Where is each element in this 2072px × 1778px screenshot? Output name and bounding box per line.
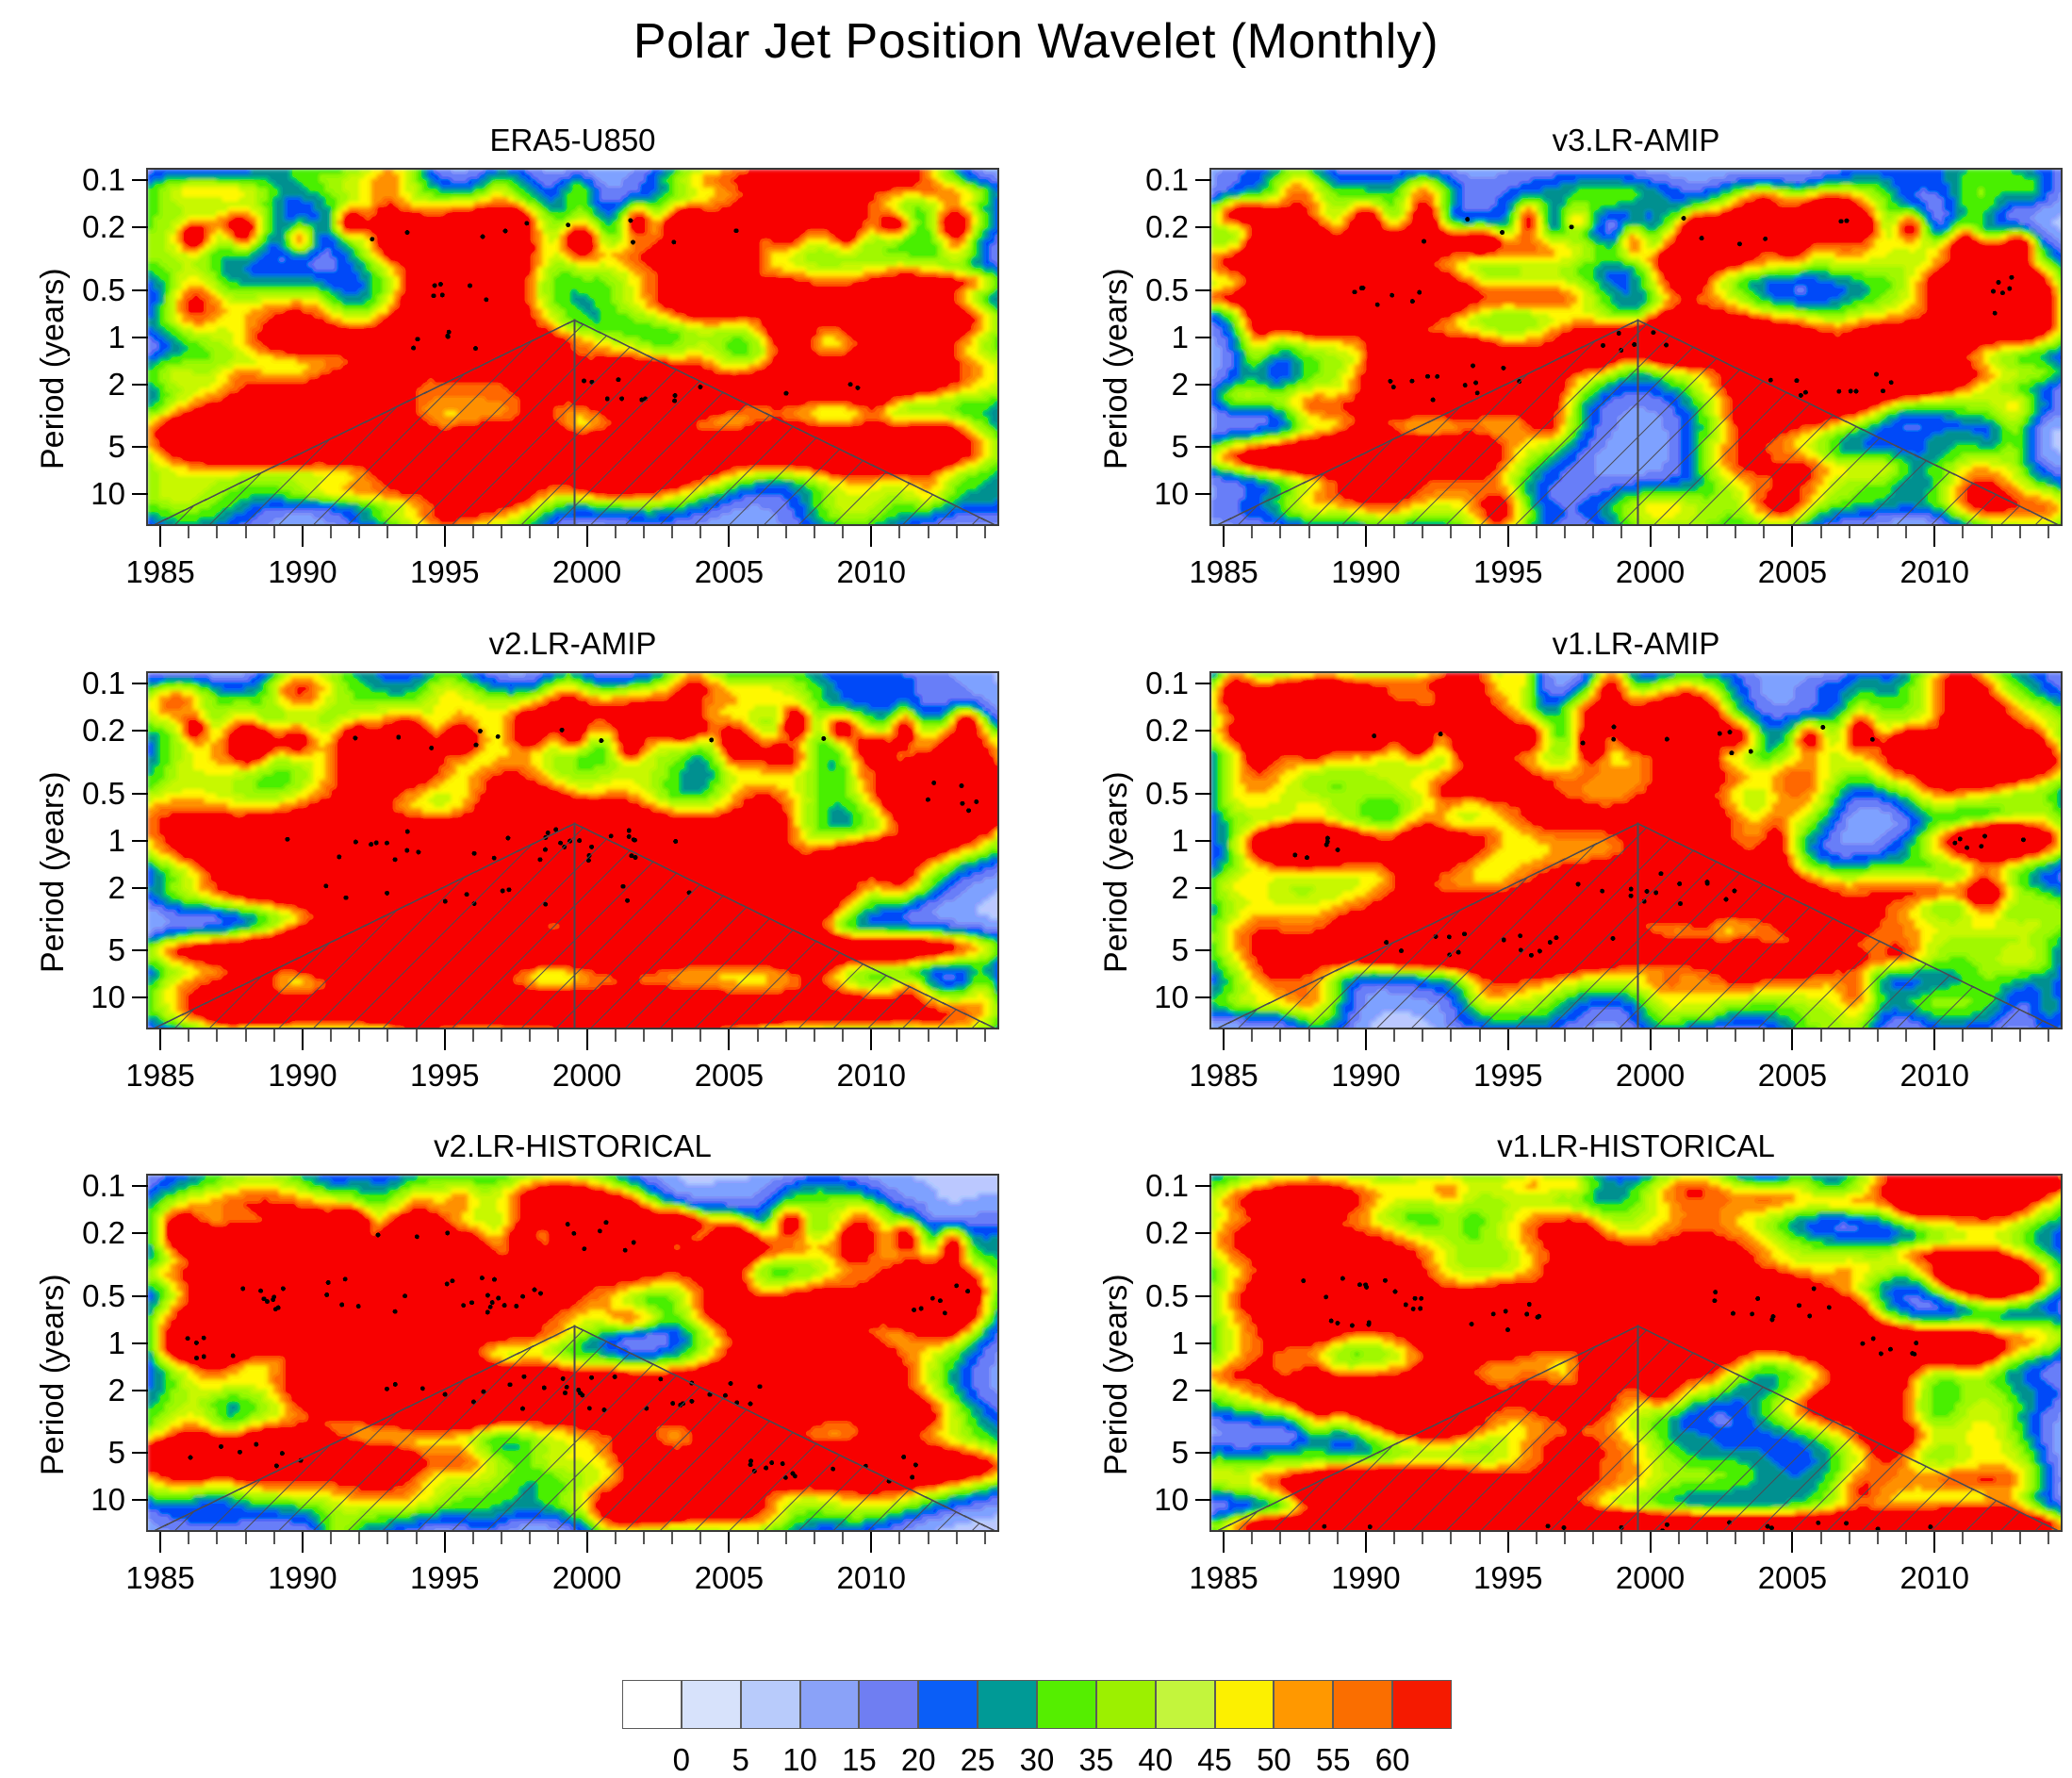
x-tick-mark-minor bbox=[643, 1029, 645, 1042]
panel-title: v3.LR-AMIP bbox=[1209, 123, 2063, 158]
y-tick-label: 0.2 bbox=[1145, 713, 1189, 749]
panel-title: v2.LR-HISTORICAL bbox=[146, 1128, 999, 1164]
y-tick-mark bbox=[1195, 179, 1211, 181]
wavelet-plot-area bbox=[146, 168, 999, 526]
colorbar-tick-label: 30 bbox=[1020, 1742, 1055, 1778]
x-tick-label: 2000 bbox=[1616, 1058, 1685, 1094]
wavelet-plot-area bbox=[146, 671, 999, 1029]
x-tick-mark-major bbox=[1650, 526, 1652, 547]
x-tick-mark-major bbox=[302, 1532, 304, 1553]
x-tick-mark-minor bbox=[928, 1029, 929, 1042]
y-tick-mark bbox=[1195, 683, 1211, 684]
x-tick-mark-major bbox=[1507, 1532, 1509, 1553]
colorbar-tick-label: 55 bbox=[1316, 1742, 1351, 1778]
x-tick-mark-minor bbox=[1706, 1532, 1708, 1544]
colorbar-tick-label: 5 bbox=[732, 1742, 749, 1778]
colorbar-swatch bbox=[1274, 1680, 1333, 1729]
x-tick-mark-minor bbox=[1849, 1029, 1850, 1042]
x-tick-mark-minor bbox=[557, 1029, 559, 1042]
x-tick-mark-minor bbox=[188, 526, 189, 538]
x-tick-label: 2005 bbox=[1758, 554, 1827, 590]
colorbar-tick-label: 45 bbox=[1197, 1742, 1232, 1778]
y-tick-mark bbox=[132, 1232, 148, 1234]
y-tick-mark bbox=[1195, 730, 1211, 732]
y-tick-label: 5 bbox=[108, 1435, 125, 1471]
wavelet-plot-area bbox=[1209, 1174, 2063, 1532]
y-tick-label: 1 bbox=[108, 320, 125, 355]
y-tick-label: 10 bbox=[90, 476, 125, 512]
y-tick-label: 0.5 bbox=[1145, 776, 1189, 812]
colorbar-tick-label: 60 bbox=[1375, 1742, 1410, 1778]
x-tick-mark-major bbox=[1791, 526, 1793, 547]
x-tick-mark-minor bbox=[216, 526, 218, 538]
x-tick-mark-major bbox=[1933, 1029, 1935, 1050]
x-tick-mark-minor bbox=[814, 1532, 815, 1544]
x-tick-mark-major bbox=[1650, 1029, 1652, 1050]
x-tick-mark-minor bbox=[1592, 526, 1594, 538]
x-tick-mark-major bbox=[1365, 1532, 1367, 1553]
x-tick-label: 1985 bbox=[125, 1058, 194, 1094]
x-tick-mark-minor bbox=[615, 526, 617, 538]
x-tick-label: 1995 bbox=[410, 554, 479, 590]
y-tick-mark bbox=[132, 493, 148, 495]
x-tick-label: 2005 bbox=[1758, 1560, 1827, 1596]
x-tick-mark-minor bbox=[671, 1029, 673, 1042]
x-tick-mark-minor bbox=[1337, 1029, 1339, 1042]
x-tick-mark-minor bbox=[984, 1029, 986, 1042]
x-tick-mark-minor bbox=[984, 526, 986, 538]
y-tick-label: 0.5 bbox=[82, 1278, 125, 1314]
colorbar-swatch bbox=[1392, 1680, 1452, 1729]
y-tick-mark bbox=[132, 887, 148, 889]
colorbar-swatch bbox=[918, 1680, 978, 1729]
x-tick-mark-major bbox=[1933, 1532, 1935, 1553]
y-tick-label: 2 bbox=[108, 870, 125, 906]
x-tick-mark-minor bbox=[416, 1532, 418, 1544]
x-tick-mark-minor bbox=[1877, 526, 1879, 538]
x-tick-mark-minor bbox=[1620, 526, 1622, 538]
x-tick-mark-minor bbox=[1564, 526, 1566, 538]
y-tick-label: 0.1 bbox=[1145, 666, 1189, 701]
y-tick-mark bbox=[132, 226, 148, 228]
y-tick-mark bbox=[132, 1499, 148, 1501]
x-tick-label: 2000 bbox=[552, 1560, 621, 1596]
y-tick-mark bbox=[132, 793, 148, 795]
x-tick-mark-minor bbox=[1536, 1029, 1538, 1042]
x-tick-label: 1990 bbox=[1331, 1560, 1400, 1596]
colorbar-tick-label: 20 bbox=[901, 1742, 936, 1778]
y-tick-mark bbox=[132, 384, 148, 386]
x-tick-label: 2005 bbox=[1758, 1058, 1827, 1094]
x-tick-mark-minor bbox=[1735, 526, 1736, 538]
colorbar-tick-label: 40 bbox=[1138, 1742, 1173, 1778]
x-tick-mark-major bbox=[444, 1532, 446, 1553]
colorbar-swatch bbox=[800, 1680, 860, 1729]
x-tick-mark-major bbox=[1223, 1532, 1225, 1553]
x-tick-mark-minor bbox=[1706, 526, 1708, 538]
x-tick-mark-minor bbox=[1849, 1532, 1850, 1544]
y-tick-mark bbox=[1195, 949, 1211, 951]
x-tick-mark-minor bbox=[984, 1532, 986, 1544]
x-tick-mark-minor bbox=[529, 1029, 531, 1042]
x-tick-mark-minor bbox=[1393, 1532, 1395, 1544]
x-tick-label: 2010 bbox=[1900, 1560, 1969, 1596]
x-tick-label: 1995 bbox=[1473, 1560, 1542, 1596]
x-tick-mark-minor bbox=[216, 1532, 218, 1544]
x-tick-mark-minor bbox=[1450, 526, 1452, 538]
x-tick-mark-minor bbox=[188, 1029, 189, 1042]
y-tick-mark bbox=[1195, 1390, 1211, 1391]
y-tick-mark bbox=[1195, 384, 1211, 386]
x-tick-mark-minor bbox=[1564, 1532, 1566, 1544]
x-tick-label: 2010 bbox=[1900, 1058, 1969, 1094]
x-tick-mark-major bbox=[1650, 1532, 1652, 1553]
x-tick-mark-major bbox=[870, 1532, 872, 1553]
colorbar-tick-label: 10 bbox=[782, 1742, 817, 1778]
x-tick-mark-major bbox=[870, 526, 872, 547]
y-tick-label: 2 bbox=[108, 1373, 125, 1408]
y-tick-label: 10 bbox=[1154, 980, 1189, 1015]
y-tick-label: 1 bbox=[108, 1325, 125, 1361]
x-tick-label: 1995 bbox=[410, 1560, 479, 1596]
x-tick-mark-minor bbox=[1678, 526, 1680, 538]
y-tick-label: 0.1 bbox=[82, 162, 125, 198]
x-tick-label: 1990 bbox=[1331, 554, 1400, 590]
x-tick-mark-minor bbox=[1251, 1029, 1253, 1042]
x-tick-mark-minor bbox=[1308, 1532, 1310, 1544]
colorbar bbox=[622, 1680, 1452, 1729]
y-tick-mark bbox=[1195, 996, 1211, 998]
x-tick-label: 1990 bbox=[268, 554, 337, 590]
x-tick-mark-minor bbox=[472, 1532, 474, 1544]
y-tick-label: 5 bbox=[1172, 429, 1189, 465]
colorbar-tick-label: 35 bbox=[1078, 1742, 1113, 1778]
colorbar-swatch bbox=[682, 1680, 741, 1729]
y-tick-label: 0.2 bbox=[1145, 1215, 1189, 1251]
x-tick-mark-major bbox=[1507, 1029, 1509, 1050]
x-tick-mark-minor bbox=[1279, 526, 1281, 538]
x-tick-label: 1995 bbox=[410, 1058, 479, 1094]
x-tick-mark-minor bbox=[1393, 1029, 1395, 1042]
x-tick-label: 2010 bbox=[837, 1560, 906, 1596]
x-tick-mark-minor bbox=[1479, 526, 1481, 538]
x-tick-mark-minor bbox=[1820, 1532, 1822, 1544]
panel-era5-u850: ERA5-U850Period (years)0.10.20.512510198… bbox=[146, 168, 999, 526]
x-tick-mark-major bbox=[586, 526, 588, 547]
colorbar-swatch bbox=[1096, 1680, 1156, 1729]
y-axis-label: Period (years) bbox=[1098, 1274, 1135, 1475]
y-tick-mark bbox=[1195, 226, 1211, 228]
x-tick-label: 1995 bbox=[1473, 1058, 1542, 1094]
x-tick-label: 1990 bbox=[268, 1058, 337, 1094]
y-tick-label: 5 bbox=[108, 932, 125, 968]
colorbar-tick-label: 15 bbox=[842, 1742, 877, 1778]
x-tick-mark-minor bbox=[643, 1532, 645, 1544]
x-tick-mark-major bbox=[1933, 526, 1935, 547]
x-tick-mark-minor bbox=[1479, 1532, 1481, 1544]
colorbar-swatch bbox=[1156, 1680, 1215, 1729]
y-tick-mark bbox=[132, 179, 148, 181]
y-tick-mark bbox=[1195, 840, 1211, 842]
y-tick-label: 0.1 bbox=[1145, 1168, 1189, 1204]
x-tick-mark-minor bbox=[842, 1532, 844, 1544]
x-tick-mark-minor bbox=[245, 526, 247, 538]
x-tick-mark-minor bbox=[1735, 1029, 1736, 1042]
colorbar-swatch bbox=[1215, 1680, 1274, 1729]
x-tick-mark-minor bbox=[615, 1532, 617, 1544]
x-tick-mark-minor bbox=[529, 1532, 531, 1544]
wavelet-plot-area bbox=[1209, 671, 2063, 1029]
x-tick-mark-minor bbox=[928, 1532, 929, 1544]
x-tick-mark-minor bbox=[2019, 1532, 2021, 1544]
y-tick-label: 0.2 bbox=[82, 713, 125, 749]
panel-title: v1.LR-HISTORICAL bbox=[1209, 1128, 2063, 1164]
x-tick-mark-major bbox=[1223, 1029, 1225, 1050]
y-tick-mark bbox=[132, 840, 148, 842]
x-tick-mark-minor bbox=[1991, 1532, 1993, 1544]
x-tick-mark-minor bbox=[472, 526, 474, 538]
y-tick-label: 2 bbox=[1172, 870, 1189, 906]
y-tick-label: 2 bbox=[1172, 367, 1189, 403]
y-tick-label: 0.2 bbox=[82, 209, 125, 245]
x-tick-mark-minor bbox=[1905, 1532, 1907, 1544]
x-tick-label: 1985 bbox=[1189, 554, 1258, 590]
x-tick-mark-minor bbox=[1337, 1532, 1339, 1544]
x-tick-mark-minor bbox=[1308, 526, 1310, 538]
x-tick-mark-minor bbox=[1620, 1532, 1622, 1544]
x-tick-label: 1985 bbox=[1189, 1560, 1258, 1596]
x-tick-mark-minor bbox=[188, 1532, 189, 1544]
x-tick-mark-minor bbox=[1592, 1029, 1594, 1042]
x-tick-mark-minor bbox=[2047, 526, 2049, 538]
x-tick-mark-minor bbox=[956, 526, 958, 538]
x-tick-mark-minor bbox=[671, 526, 673, 538]
x-tick-mark-minor bbox=[2019, 1029, 2021, 1042]
x-tick-mark-minor bbox=[1991, 1029, 1993, 1042]
x-tick-mark-minor bbox=[557, 1532, 559, 1544]
x-tick-mark-major bbox=[870, 1029, 872, 1050]
x-tick-mark-minor bbox=[273, 1532, 275, 1544]
y-tick-label: 1 bbox=[1172, 320, 1189, 355]
x-tick-mark-minor bbox=[1393, 526, 1395, 538]
x-tick-mark-minor bbox=[1450, 1532, 1452, 1544]
y-tick-mark bbox=[1195, 446, 1211, 448]
y-tick-label: 0.2 bbox=[1145, 209, 1189, 245]
x-tick-mark-minor bbox=[330, 526, 332, 538]
colorbar-swatch bbox=[741, 1680, 800, 1729]
y-tick-mark bbox=[1195, 1295, 1211, 1297]
y-tick-label: 2 bbox=[1172, 1373, 1189, 1408]
x-tick-mark-minor bbox=[2019, 526, 2021, 538]
y-tick-mark bbox=[1195, 887, 1211, 889]
y-tick-label: 0.5 bbox=[1145, 272, 1189, 308]
x-tick-mark-minor bbox=[671, 1532, 673, 1544]
x-tick-mark-minor bbox=[358, 526, 360, 538]
x-tick-mark-major bbox=[302, 1029, 304, 1050]
y-tick-mark bbox=[132, 1452, 148, 1454]
x-tick-mark-minor bbox=[1735, 1532, 1736, 1544]
x-tick-mark-minor bbox=[785, 526, 787, 538]
x-tick-mark-minor bbox=[330, 1532, 332, 1544]
y-tick-label: 1 bbox=[108, 823, 125, 859]
y-tick-mark bbox=[1195, 1342, 1211, 1344]
x-tick-mark-major bbox=[444, 526, 446, 547]
x-tick-mark-minor bbox=[814, 1029, 815, 1042]
x-tick-mark-minor bbox=[501, 526, 502, 538]
y-axis-label: Period (years) bbox=[35, 1274, 72, 1475]
x-tick-label: 2005 bbox=[695, 554, 764, 590]
x-tick-mark-minor bbox=[2047, 1532, 2049, 1544]
x-tick-mark-minor bbox=[1678, 1532, 1680, 1544]
x-tick-mark-minor bbox=[1337, 526, 1339, 538]
x-tick-mark-minor bbox=[1536, 526, 1538, 538]
x-tick-mark-major bbox=[1791, 1532, 1793, 1553]
x-tick-mark-minor bbox=[1820, 1029, 1822, 1042]
x-tick-mark-major bbox=[728, 1532, 730, 1553]
x-tick-label: 2000 bbox=[552, 1058, 621, 1094]
x-tick-mark-minor bbox=[1678, 1029, 1680, 1042]
x-tick-mark-minor bbox=[1251, 526, 1253, 538]
x-tick-label: 1995 bbox=[1473, 554, 1542, 590]
x-tick-mark-minor bbox=[1877, 1532, 1879, 1544]
y-tick-mark bbox=[132, 1295, 148, 1297]
x-tick-mark-major bbox=[586, 1029, 588, 1050]
y-tick-mark bbox=[1195, 1499, 1211, 1501]
x-tick-mark-minor bbox=[1279, 1029, 1281, 1042]
x-tick-mark-minor bbox=[842, 1029, 844, 1042]
x-tick-mark-minor bbox=[557, 526, 559, 538]
x-tick-label: 2005 bbox=[695, 1560, 764, 1596]
x-tick-label: 2010 bbox=[837, 554, 906, 590]
y-tick-mark bbox=[132, 949, 148, 951]
x-tick-mark-minor bbox=[501, 1029, 502, 1042]
colorbar-swatch bbox=[978, 1680, 1037, 1729]
y-tick-label: 10 bbox=[1154, 1482, 1189, 1518]
y-tick-mark bbox=[132, 289, 148, 291]
x-tick-label: 1985 bbox=[1189, 1058, 1258, 1094]
x-tick-label: 2010 bbox=[837, 1058, 906, 1094]
y-tick-label: 5 bbox=[1172, 1435, 1189, 1471]
panel-v1-lr-amip: v1.LR-AMIPPeriod (years)0.10.20.51251019… bbox=[1209, 671, 2063, 1029]
x-tick-mark-minor bbox=[386, 1029, 388, 1042]
figure-root: Polar Jet Position Wavelet (Monthly) ERA… bbox=[0, 0, 2072, 1773]
colorbar-tick-label: 50 bbox=[1257, 1742, 1291, 1778]
x-tick-mark-minor bbox=[1905, 1029, 1907, 1042]
x-tick-mark-major bbox=[1365, 526, 1367, 547]
x-tick-mark-minor bbox=[1962, 526, 1964, 538]
x-tick-mark-minor bbox=[1620, 1029, 1622, 1042]
x-tick-mark-minor bbox=[1962, 1532, 1964, 1544]
y-tick-mark bbox=[1195, 337, 1211, 338]
colorbar-tick-label: 25 bbox=[961, 1742, 995, 1778]
x-tick-mark-minor bbox=[1905, 526, 1907, 538]
x-tick-mark-minor bbox=[386, 526, 388, 538]
y-tick-mark bbox=[1195, 493, 1211, 495]
x-tick-mark-major bbox=[1507, 526, 1509, 547]
x-tick-label: 2000 bbox=[1616, 1560, 1685, 1596]
y-axis-label: Period (years) bbox=[35, 771, 72, 973]
x-tick-mark-major bbox=[302, 526, 304, 547]
x-tick-mark-minor bbox=[956, 1029, 958, 1042]
x-tick-label: 2000 bbox=[552, 554, 621, 590]
y-tick-mark bbox=[132, 1185, 148, 1187]
x-tick-mark-minor bbox=[699, 526, 701, 538]
x-tick-mark-minor bbox=[1479, 1029, 1481, 1042]
x-tick-mark-minor bbox=[699, 1029, 701, 1042]
x-tick-mark-major bbox=[159, 1532, 161, 1553]
x-tick-mark-major bbox=[728, 526, 730, 547]
x-tick-mark-minor bbox=[1422, 1532, 1423, 1544]
y-tick-mark bbox=[1195, 1452, 1211, 1454]
x-tick-mark-major bbox=[586, 1532, 588, 1553]
y-tick-label: 10 bbox=[90, 1482, 125, 1518]
x-tick-mark-minor bbox=[273, 1029, 275, 1042]
x-tick-mark-minor bbox=[472, 1029, 474, 1042]
y-tick-label: 0.1 bbox=[82, 1168, 125, 1204]
y-tick-label: 1 bbox=[1172, 1325, 1189, 1361]
x-tick-mark-minor bbox=[1763, 1532, 1765, 1544]
x-tick-mark-minor bbox=[898, 1029, 900, 1042]
x-tick-label: 2000 bbox=[1616, 554, 1685, 590]
x-tick-mark-minor bbox=[501, 1532, 502, 1544]
x-tick-mark-major bbox=[159, 526, 161, 547]
colorbar-tick-label: 0 bbox=[673, 1742, 690, 1778]
x-tick-mark-minor bbox=[1991, 526, 1993, 538]
x-tick-mark-minor bbox=[529, 526, 531, 538]
x-tick-mark-minor bbox=[2047, 1029, 2049, 1042]
x-tick-label: 1985 bbox=[125, 554, 194, 590]
x-tick-mark-minor bbox=[1422, 526, 1423, 538]
y-tick-mark bbox=[1195, 289, 1211, 291]
y-tick-mark bbox=[132, 730, 148, 732]
x-tick-mark-major bbox=[1791, 1029, 1793, 1050]
x-tick-mark-major bbox=[1365, 1029, 1367, 1050]
x-tick-mark-minor bbox=[1849, 526, 1850, 538]
x-tick-label: 1990 bbox=[1331, 1058, 1400, 1094]
x-tick-mark-minor bbox=[699, 1532, 701, 1544]
x-tick-label: 1990 bbox=[268, 1560, 337, 1596]
y-tick-label: 5 bbox=[108, 429, 125, 465]
colorbar-swatch bbox=[1037, 1680, 1096, 1729]
x-tick-mark-minor bbox=[785, 1029, 787, 1042]
x-tick-mark-minor bbox=[1763, 526, 1765, 538]
x-tick-mark-minor bbox=[1763, 1029, 1765, 1042]
y-tick-label: 0.5 bbox=[82, 776, 125, 812]
x-tick-mark-major bbox=[444, 1029, 446, 1050]
x-tick-mark-minor bbox=[1564, 1029, 1566, 1042]
x-tick-mark-minor bbox=[1820, 526, 1822, 538]
x-tick-mark-minor bbox=[1536, 1532, 1538, 1544]
y-tick-label: 0.1 bbox=[1145, 162, 1189, 198]
x-tick-mark-minor bbox=[330, 1029, 332, 1042]
panel-v3-lr-amip: v3.LR-AMIPPeriod (years)0.10.20.51251019… bbox=[1209, 168, 2063, 526]
y-tick-label: 10 bbox=[1154, 476, 1189, 512]
x-tick-mark-minor bbox=[1251, 1532, 1253, 1544]
y-tick-mark bbox=[132, 1342, 148, 1344]
colorbar-swatch bbox=[859, 1680, 918, 1729]
x-tick-mark-minor bbox=[956, 1532, 958, 1544]
x-tick-mark-minor bbox=[1450, 1029, 1452, 1042]
y-tick-mark bbox=[132, 446, 148, 448]
x-tick-mark-minor bbox=[1592, 1532, 1594, 1544]
x-tick-mark-major bbox=[159, 1029, 161, 1050]
panel-title: v2.LR-AMIP bbox=[146, 626, 999, 662]
x-tick-label: 2005 bbox=[695, 1058, 764, 1094]
y-tick-mark bbox=[1195, 1232, 1211, 1234]
x-tick-mark-minor bbox=[1308, 1029, 1310, 1042]
x-tick-mark-minor bbox=[785, 1532, 787, 1544]
x-tick-mark-minor bbox=[643, 526, 645, 538]
